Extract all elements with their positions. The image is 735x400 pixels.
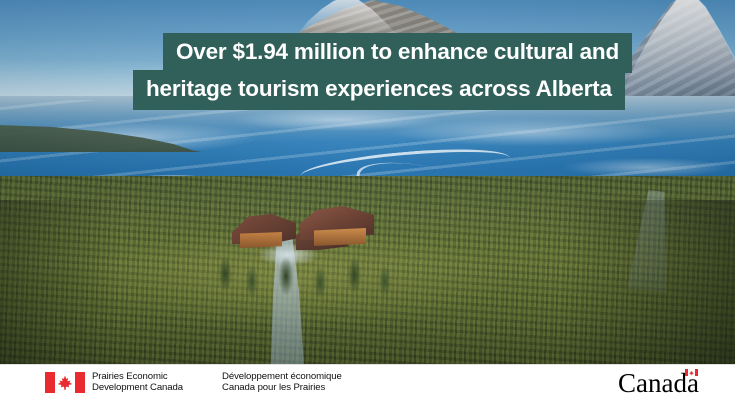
forest-right-shadow bbox=[560, 200, 735, 364]
flag-left-band bbox=[45, 372, 55, 393]
department-name-fr: Développement économiqueCanada pour les … bbox=[222, 372, 342, 393]
flag-right-band bbox=[75, 372, 85, 393]
department-name-en: Prairies EconomicDevelopment Canada bbox=[92, 372, 183, 393]
department-name-fr-line1: Développement économique bbox=[222, 371, 342, 382]
headline-line-1: Over $1.94 million to enhance cultural a… bbox=[163, 33, 632, 73]
wordmark-maple-leaf-icon bbox=[689, 370, 694, 376]
lodge-foreground-trees bbox=[210, 238, 400, 298]
department-name-en-line2: Development Canada bbox=[92, 382, 183, 393]
maple-leaf-icon bbox=[57, 374, 73, 391]
canada-flag-icon bbox=[45, 372, 85, 393]
headline-line-2: heritage tourism experiences across Albe… bbox=[133, 70, 625, 110]
wordmark-flag-right-band bbox=[695, 369, 698, 376]
forest-left-shadow bbox=[0, 200, 120, 364]
footer-divider bbox=[0, 364, 735, 365]
department-name-fr-line2: Canada pour les Prairies bbox=[222, 382, 325, 393]
canada-wordmark-flag-icon bbox=[685, 369, 698, 376]
department-name-en-line1: Prairies Economic bbox=[92, 371, 168, 382]
wordmark-flag-left-band bbox=[685, 369, 688, 376]
